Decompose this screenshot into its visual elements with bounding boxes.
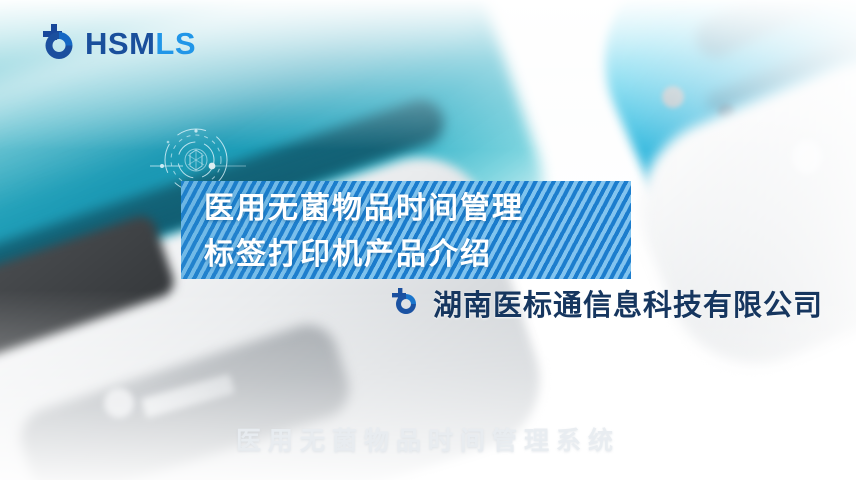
brand-logo: HSMLS <box>36 20 196 66</box>
brand-wordmark-light: LS <box>155 26 196 61</box>
company-logo-mark-icon <box>389 286 423 320</box>
company-credit: 湖南医标通信息科技有限公司 <box>389 282 823 324</box>
brand-wordmark-dark: HSM <box>85 26 155 61</box>
bottom-watermark: 医用无菌物品时间管理系统 <box>0 421 856 457</box>
brand-wordmark: HSMLS <box>85 28 196 59</box>
company-name: 湖南医标通信息科技有限公司 <box>433 282 823 324</box>
page-title-line-2: 标签打印机产品介绍 <box>204 232 624 278</box>
presentation-slide: HSMLS 医用无菌物品时间管理 标签打印机产品介绍 湖南医标通信息科技有限公司… <box>0 0 856 480</box>
page-title-line-1: 医用无菌物品时间管理 <box>204 186 624 232</box>
hsmls-logo-mark-icon <box>36 20 82 66</box>
page-title: 医用无菌物品时间管理 标签打印机产品介绍 <box>204 186 624 278</box>
